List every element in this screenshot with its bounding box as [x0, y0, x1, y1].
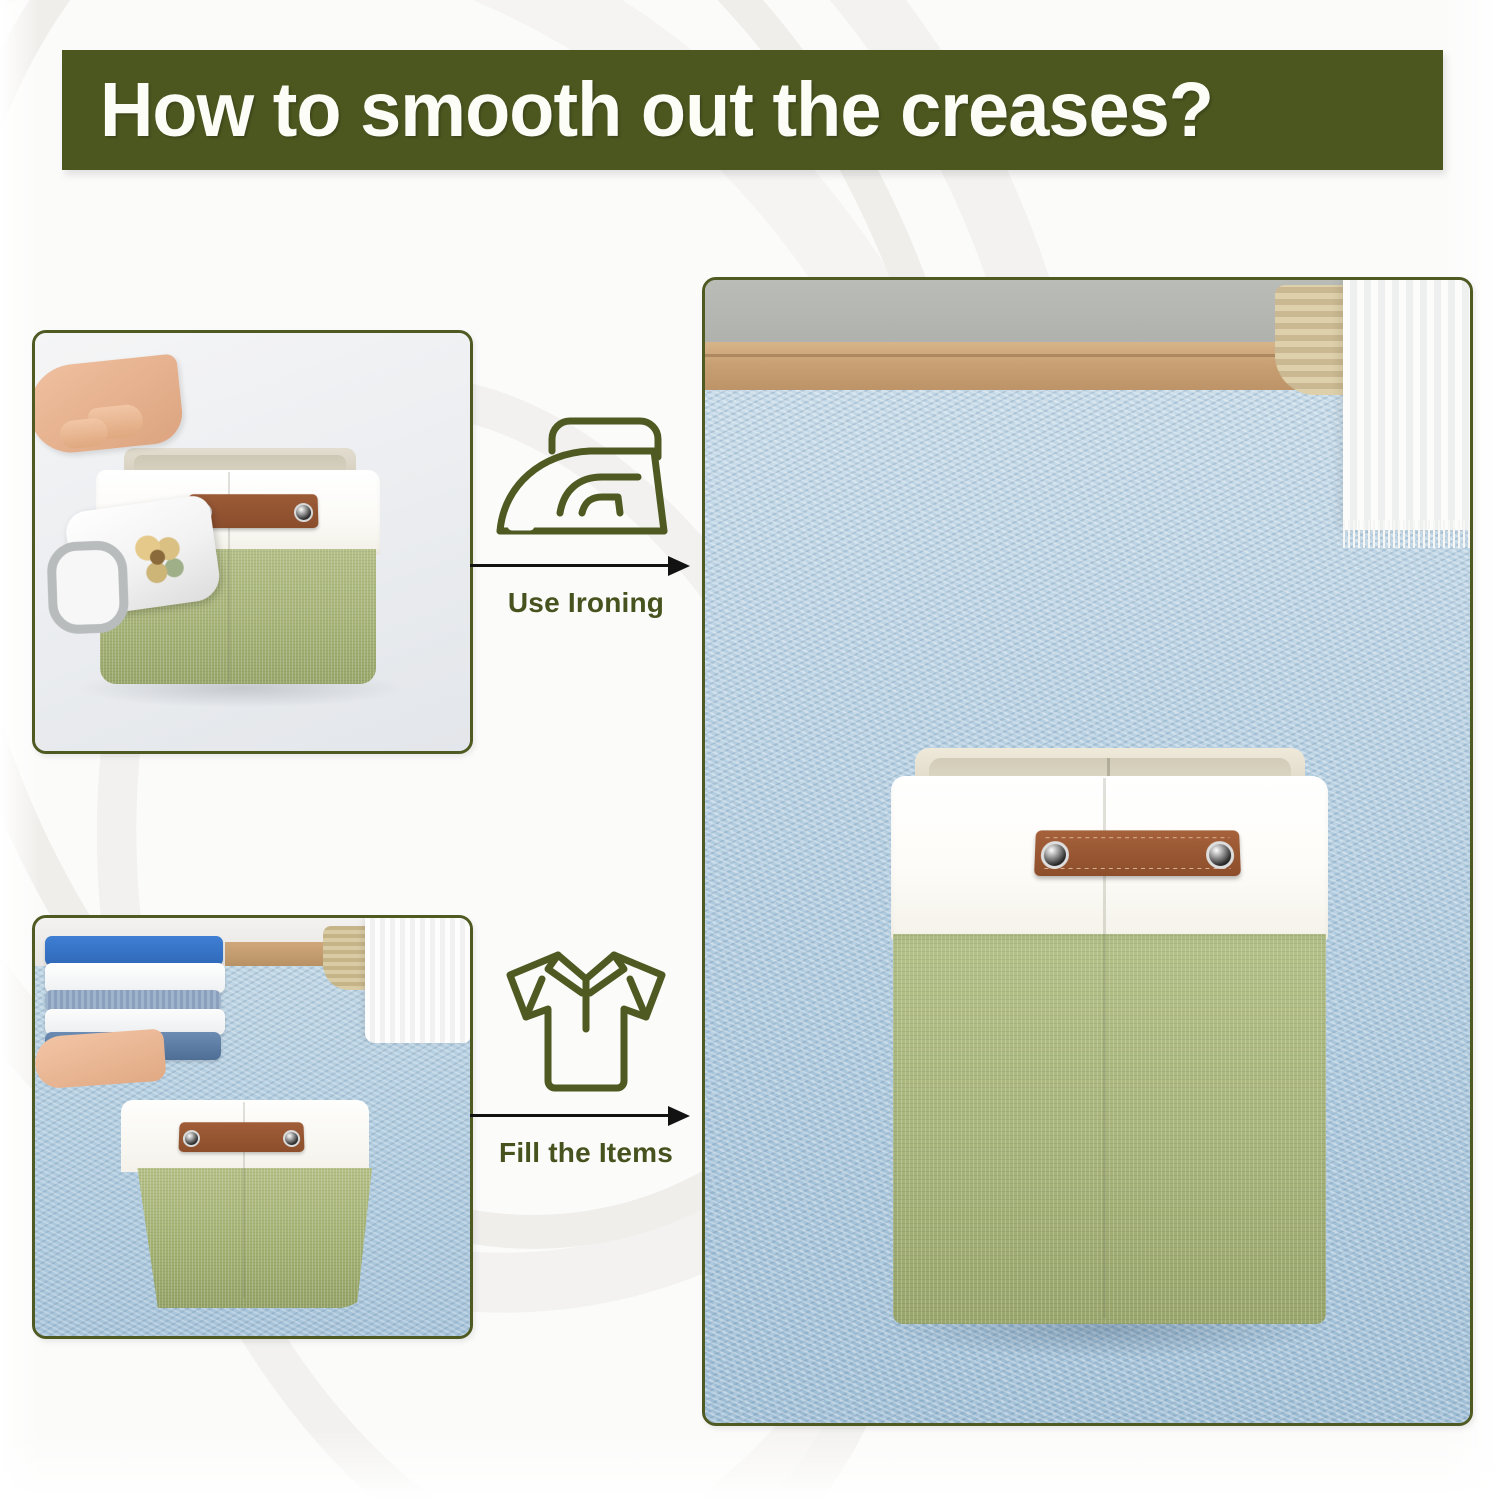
photo-panel-fill-the-items [32, 915, 473, 1339]
garment-steamer [40, 494, 225, 635]
collapsed-storage-basket [117, 1100, 372, 1310]
leather-handle [178, 1122, 304, 1152]
arrow-head [668, 1106, 690, 1126]
photo-use-ironing [35, 333, 470, 751]
steamer-grip [46, 540, 129, 635]
background-fade-bottom [0, 1430, 1500, 1500]
handle-stitching-top [1046, 837, 1230, 838]
floral-decal [129, 525, 193, 590]
hand-holding-basket [35, 353, 185, 456]
photo-panel-use-ironing [32, 330, 473, 754]
photo-panel-main-product [702, 277, 1473, 1426]
arrow-right-icon [470, 551, 702, 579]
step-label-use-ironing: Use Ironing [470, 587, 702, 619]
arrow-line [470, 564, 676, 567]
step-use-ironing: Use Ironing [470, 405, 702, 619]
page-title: How to smooth out the creases? [100, 66, 1213, 155]
leather-handle [1034, 830, 1241, 876]
curtain-fringe [1343, 520, 1470, 548]
tshirt-icon [470, 955, 702, 1095]
folded-item-white [45, 963, 225, 993]
arrow-head [668, 556, 690, 576]
step-fill-the-items: Fill the Items [470, 955, 702, 1169]
photo-main-product [705, 280, 1470, 1423]
step-label-fill-the-items: Fill the Items [470, 1137, 702, 1169]
white-curtain [365, 918, 470, 1043]
arrow-line [470, 1114, 676, 1117]
handle-stitching-bottom [1044, 868, 1230, 869]
storage-basket [887, 748, 1332, 1328]
finger [59, 417, 110, 450]
white-curtain [1343, 280, 1470, 530]
basket-green-body [893, 934, 1326, 1324]
iron-icon [470, 405, 702, 545]
arrow-right-icon [470, 1101, 702, 1129]
folded-item-blue [45, 936, 223, 966]
hand-holding-clothes [35, 1029, 167, 1090]
infographic-root: How to smooth out the creases? [0, 0, 1500, 1500]
title-banner: How to smooth out the creases? [62, 50, 1443, 170]
photo-fill-the-items [35, 918, 470, 1336]
